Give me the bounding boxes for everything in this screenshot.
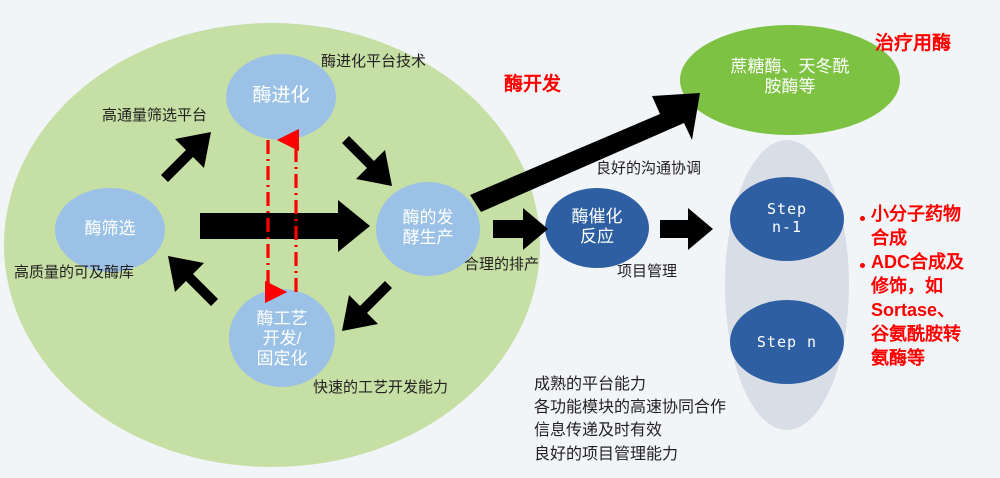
application-bullet-dot-1 xyxy=(860,216,865,221)
enzyme-evolution-ellipse[interactable] xyxy=(226,54,336,140)
caption-fast-process-dev: 快速的工艺开发能力 xyxy=(313,378,448,398)
diagram-canvas xyxy=(0,0,1000,478)
step-n-ellipse[interactable] xyxy=(730,300,844,384)
caption-high-quality-library: 高质量的可及酶库 xyxy=(14,263,134,283)
application-bullet-dot-2 xyxy=(860,263,865,268)
step-n-minus-1-ellipse[interactable] xyxy=(730,177,844,261)
therapeutic-enzyme-product-ellipse[interactable] xyxy=(680,25,900,135)
enzyme-platform-diagram: 酶进化 酶筛选 酶的发 酵生产 酶工艺 开发/ 固定化 酶催化 反应 蔗糖酶、天… xyxy=(0,0,1000,478)
caption-rational-scheduling: 合理的排产 xyxy=(464,255,539,275)
arrow-catalysis-to-steps xyxy=(660,208,713,250)
application-item-1: 小分子药物 合成 xyxy=(871,202,961,250)
capability-summary-list: 成熟的平台能力 各功能模块的高速协同合作 信息传递及时有效 良好的项目管理能力 xyxy=(534,373,726,466)
caption-hts-platform: 高通量筛选平台 xyxy=(102,106,207,126)
label-enzyme-development: 酶开发 xyxy=(504,72,561,97)
application-item-2: ADC合成及 修饰，如 Sortase、 谷氨酰胺转 氨酶等 xyxy=(871,250,964,371)
enzyme-screening-ellipse[interactable] xyxy=(55,188,165,272)
label-therapeutic-enzyme: 治疗用酶 xyxy=(875,31,951,56)
caption-good-communication: 良好的沟通协调 xyxy=(596,159,701,179)
enzyme-catalysis-ellipse[interactable] xyxy=(545,188,649,268)
caption-project-management: 项目管理 xyxy=(617,262,677,282)
caption-platform-tech: 酶进化平台技术 xyxy=(321,52,426,72)
enzyme-process-dev-ellipse[interactable] xyxy=(229,289,335,387)
